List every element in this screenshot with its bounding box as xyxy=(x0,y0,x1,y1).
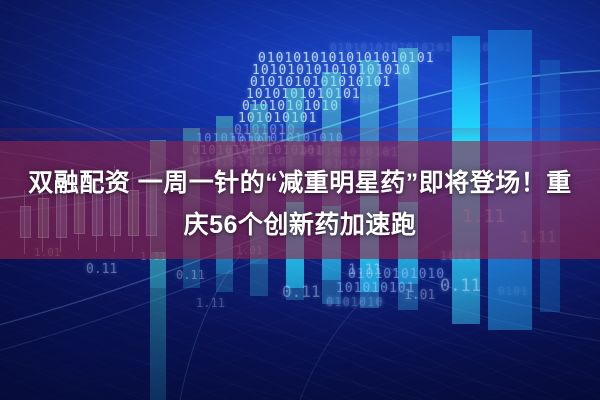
band-top-fade xyxy=(0,128,600,142)
headline-line-2: 庆56个创新药加速跑 xyxy=(8,204,592,246)
banner-image: 01010101010101010101 101010101010101010 … xyxy=(0,0,600,400)
headline-line-1: 双融配资 一周一针的“减重明星药”即将登场！重 xyxy=(8,162,592,204)
page-title: 双融配资 一周一针的“减重明星药”即将登场！重 庆56个创新药加速跑 xyxy=(0,162,600,246)
